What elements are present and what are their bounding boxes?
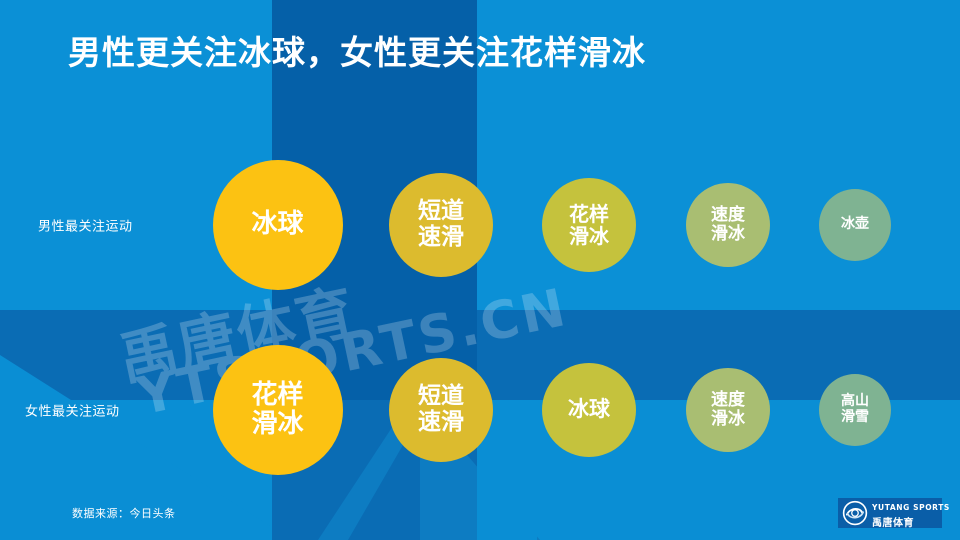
row-label-female: 女性最关注运动 xyxy=(25,401,120,420)
yutang-swirl-icon xyxy=(842,500,868,526)
row-label-male: 男性最关注运动 xyxy=(38,216,133,235)
bubble-slot: 冰球 xyxy=(190,160,365,290)
bubble-label: 冰球 xyxy=(251,210,303,239)
bubble-label: 花样滑冰 xyxy=(569,203,609,248)
bubble-slot: 短道速滑 xyxy=(365,358,517,462)
bubble-label: 冰壶 xyxy=(841,217,869,233)
bubble-男性最关注运动-3[interactable]: 花样滑冰 xyxy=(542,178,636,272)
bubble-男性最关注运动-4[interactable]: 速度滑冰 xyxy=(686,183,770,267)
source-note: 数据来源：今日头条 xyxy=(72,505,176,521)
bubble-label: 短道速滑 xyxy=(418,384,464,436)
bubble-slot: 短道速滑 xyxy=(365,173,517,277)
bubble-slot: 冰壶 xyxy=(795,189,915,261)
bubble-group-male: 冰球短道速滑花样滑冰速度滑冰冰壶 xyxy=(190,160,915,290)
bubble-男性最关注运动-1[interactable]: 冰球 xyxy=(213,160,343,290)
logo-chinese: 禹唐体育 xyxy=(872,518,914,529)
bubble-slot: 花样滑冰 xyxy=(517,178,661,272)
bubble-slot: 速度滑冰 xyxy=(661,368,795,452)
bubble-男性最关注运动-2[interactable]: 短道速滑 xyxy=(389,173,493,277)
bubble-label: 高山滑雪 xyxy=(841,394,869,425)
bubble-女性最关注运动-2[interactable]: 短道速滑 xyxy=(389,358,493,462)
bubble-男性最关注运动-5[interactable]: 冰壶 xyxy=(819,189,891,261)
bubble-slot: 冰球 xyxy=(517,363,661,457)
chart-row-female: 女性最关注运动 花样滑冰短道速滑冰球速度滑冰高山滑雪 xyxy=(0,345,960,475)
slide-title: 男性更关注冰球，女性更关注花样滑冰 xyxy=(68,26,646,74)
bubble-label: 冰球 xyxy=(568,398,610,422)
logo-text: YUTANG SPORTS 禹唐体育 xyxy=(872,497,950,529)
bubble-label: 速度滑冰 xyxy=(711,206,745,244)
brand-logo[interactable]: YUTANG SPORTS 禹唐体育 xyxy=(838,498,942,528)
bubble-slot: 高山滑雪 xyxy=(795,374,915,446)
bubble-label: 花样滑冰 xyxy=(251,381,303,439)
bubble-group-female: 花样滑冰短道速滑冰球速度滑冰高山滑雪 xyxy=(190,345,915,475)
bubble-label: 速度滑冰 xyxy=(711,391,745,429)
chart-row-male: 男性最关注运动 冰球短道速滑花样滑冰速度滑冰冰壶 xyxy=(0,160,960,290)
presentation-slide: 禹唐体育 YTSPORTS.CN 男性更关注冰球，女性更关注花样滑冰 男性最关注… xyxy=(0,0,960,540)
bubble-label: 短道速滑 xyxy=(418,199,464,251)
bubble-女性最关注运动-4[interactable]: 速度滑冰 xyxy=(686,368,770,452)
bubble-女性最关注运动-5[interactable]: 高山滑雪 xyxy=(819,374,891,446)
bubble-slot: 花样滑冰 xyxy=(190,345,365,475)
bubble-slot: 速度滑冰 xyxy=(661,183,795,267)
logo-english: YUTANG SPORTS xyxy=(872,503,950,512)
bubble-女性最关注运动-1[interactable]: 花样滑冰 xyxy=(213,345,343,475)
bubble-女性最关注运动-3[interactable]: 冰球 xyxy=(542,363,636,457)
